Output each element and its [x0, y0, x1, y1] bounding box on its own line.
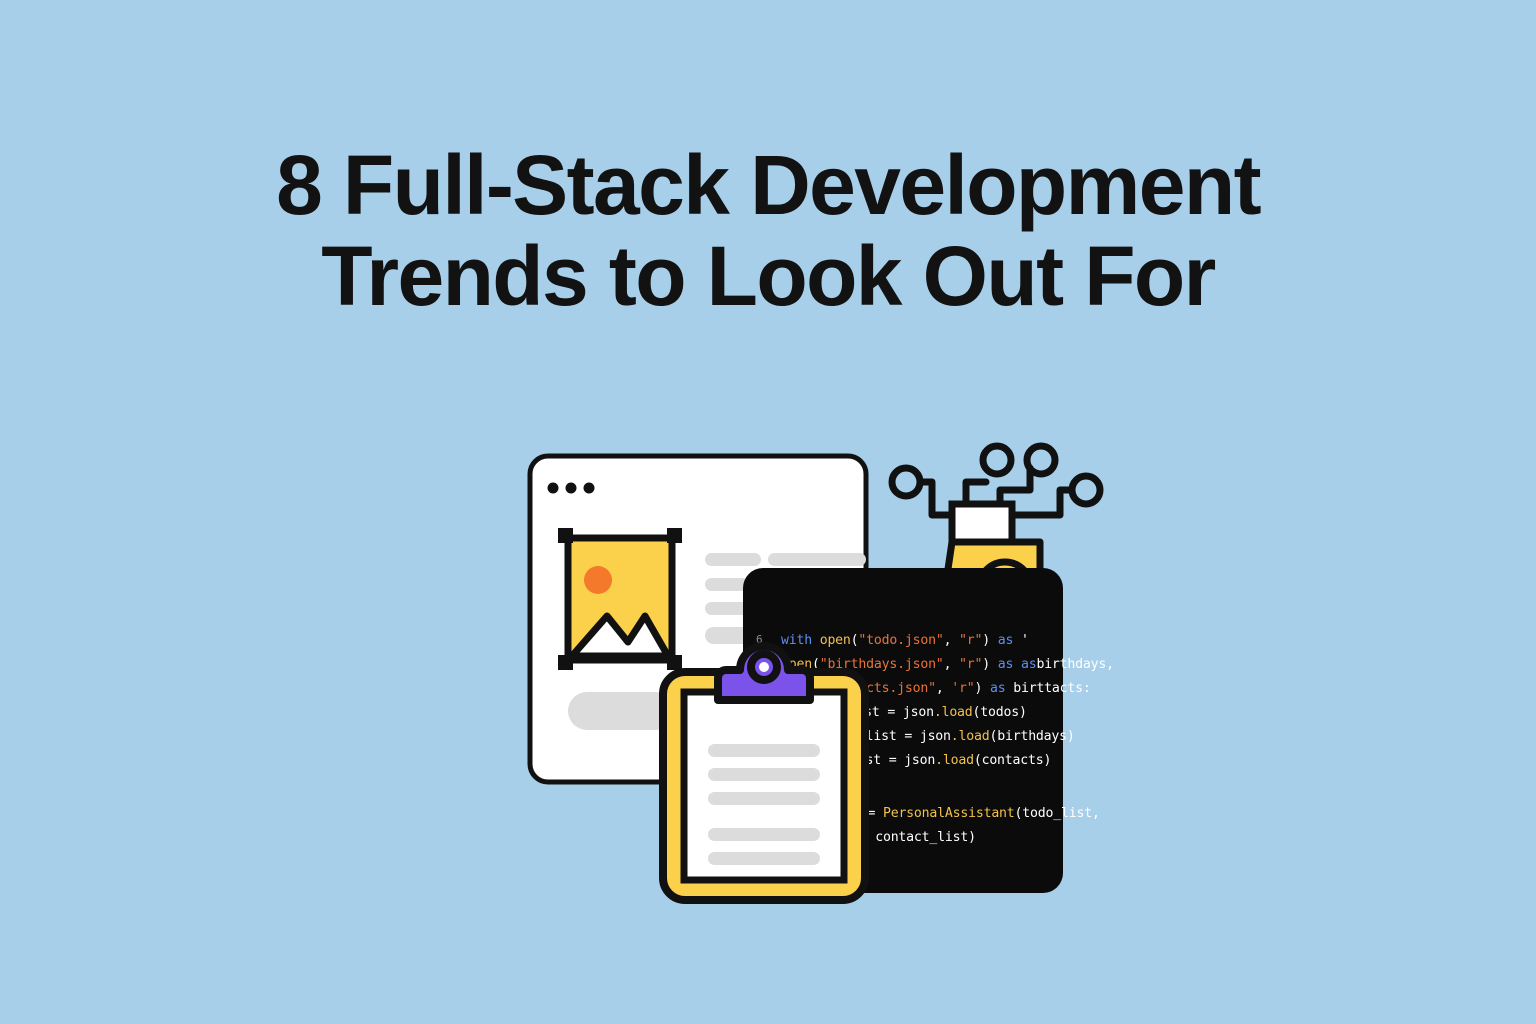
hero-illustration: 6 with open("todo.json", "r") as ' open(…: [500, 420, 1100, 920]
code-line-6: list = json.load(contacts): [850, 753, 1051, 768]
code-line-8: t, contact_list): [852, 830, 976, 845]
text-line-2a: [705, 578, 749, 591]
code-line-7: t = PersonalAssistant(todo_list,: [852, 806, 1100, 821]
paper-line-3: [708, 792, 820, 805]
text-line-3: [705, 602, 749, 615]
dot-2-icon: [566, 483, 577, 494]
page-title: 8 Full-Stack Development Trends to Look …: [0, 140, 1536, 321]
window-dots-group: [548, 483, 595, 494]
paper-line-4: [708, 828, 820, 841]
sun-icon: [584, 566, 612, 594]
dot-3-icon: [584, 483, 595, 494]
clipboard-paper: [684, 692, 844, 880]
dot-1-icon: [548, 483, 559, 494]
handle-top-left[interactable]: [558, 528, 573, 543]
paper-line-5: [708, 852, 820, 865]
paper-line-1: [708, 744, 820, 757]
code-line-1: with open("todo.json", "r") as ': [781, 633, 1029, 648]
cta-button-placeholder[interactable]: [568, 692, 675, 730]
text-line-1a: [705, 553, 761, 566]
neural-nodes: [892, 446, 1100, 504]
node-right-icon: [1072, 476, 1100, 504]
clip-dot-icon: [759, 662, 769, 672]
handle-bottom-left[interactable]: [558, 655, 573, 670]
text-line-1b: [768, 553, 866, 566]
handle-top-right[interactable]: [667, 528, 682, 543]
head-crown-rect: [952, 504, 1012, 542]
node-left-icon: [892, 468, 920, 496]
image-placeholder[interactable]: [558, 528, 682, 670]
handle-bottom-right[interactable]: [667, 655, 682, 670]
clipboard-icon[interactable]: [663, 646, 865, 900]
node-top-left-icon: [983, 446, 1011, 474]
node-top-right-icon: [1027, 446, 1055, 474]
paper-line-2: [708, 768, 820, 781]
